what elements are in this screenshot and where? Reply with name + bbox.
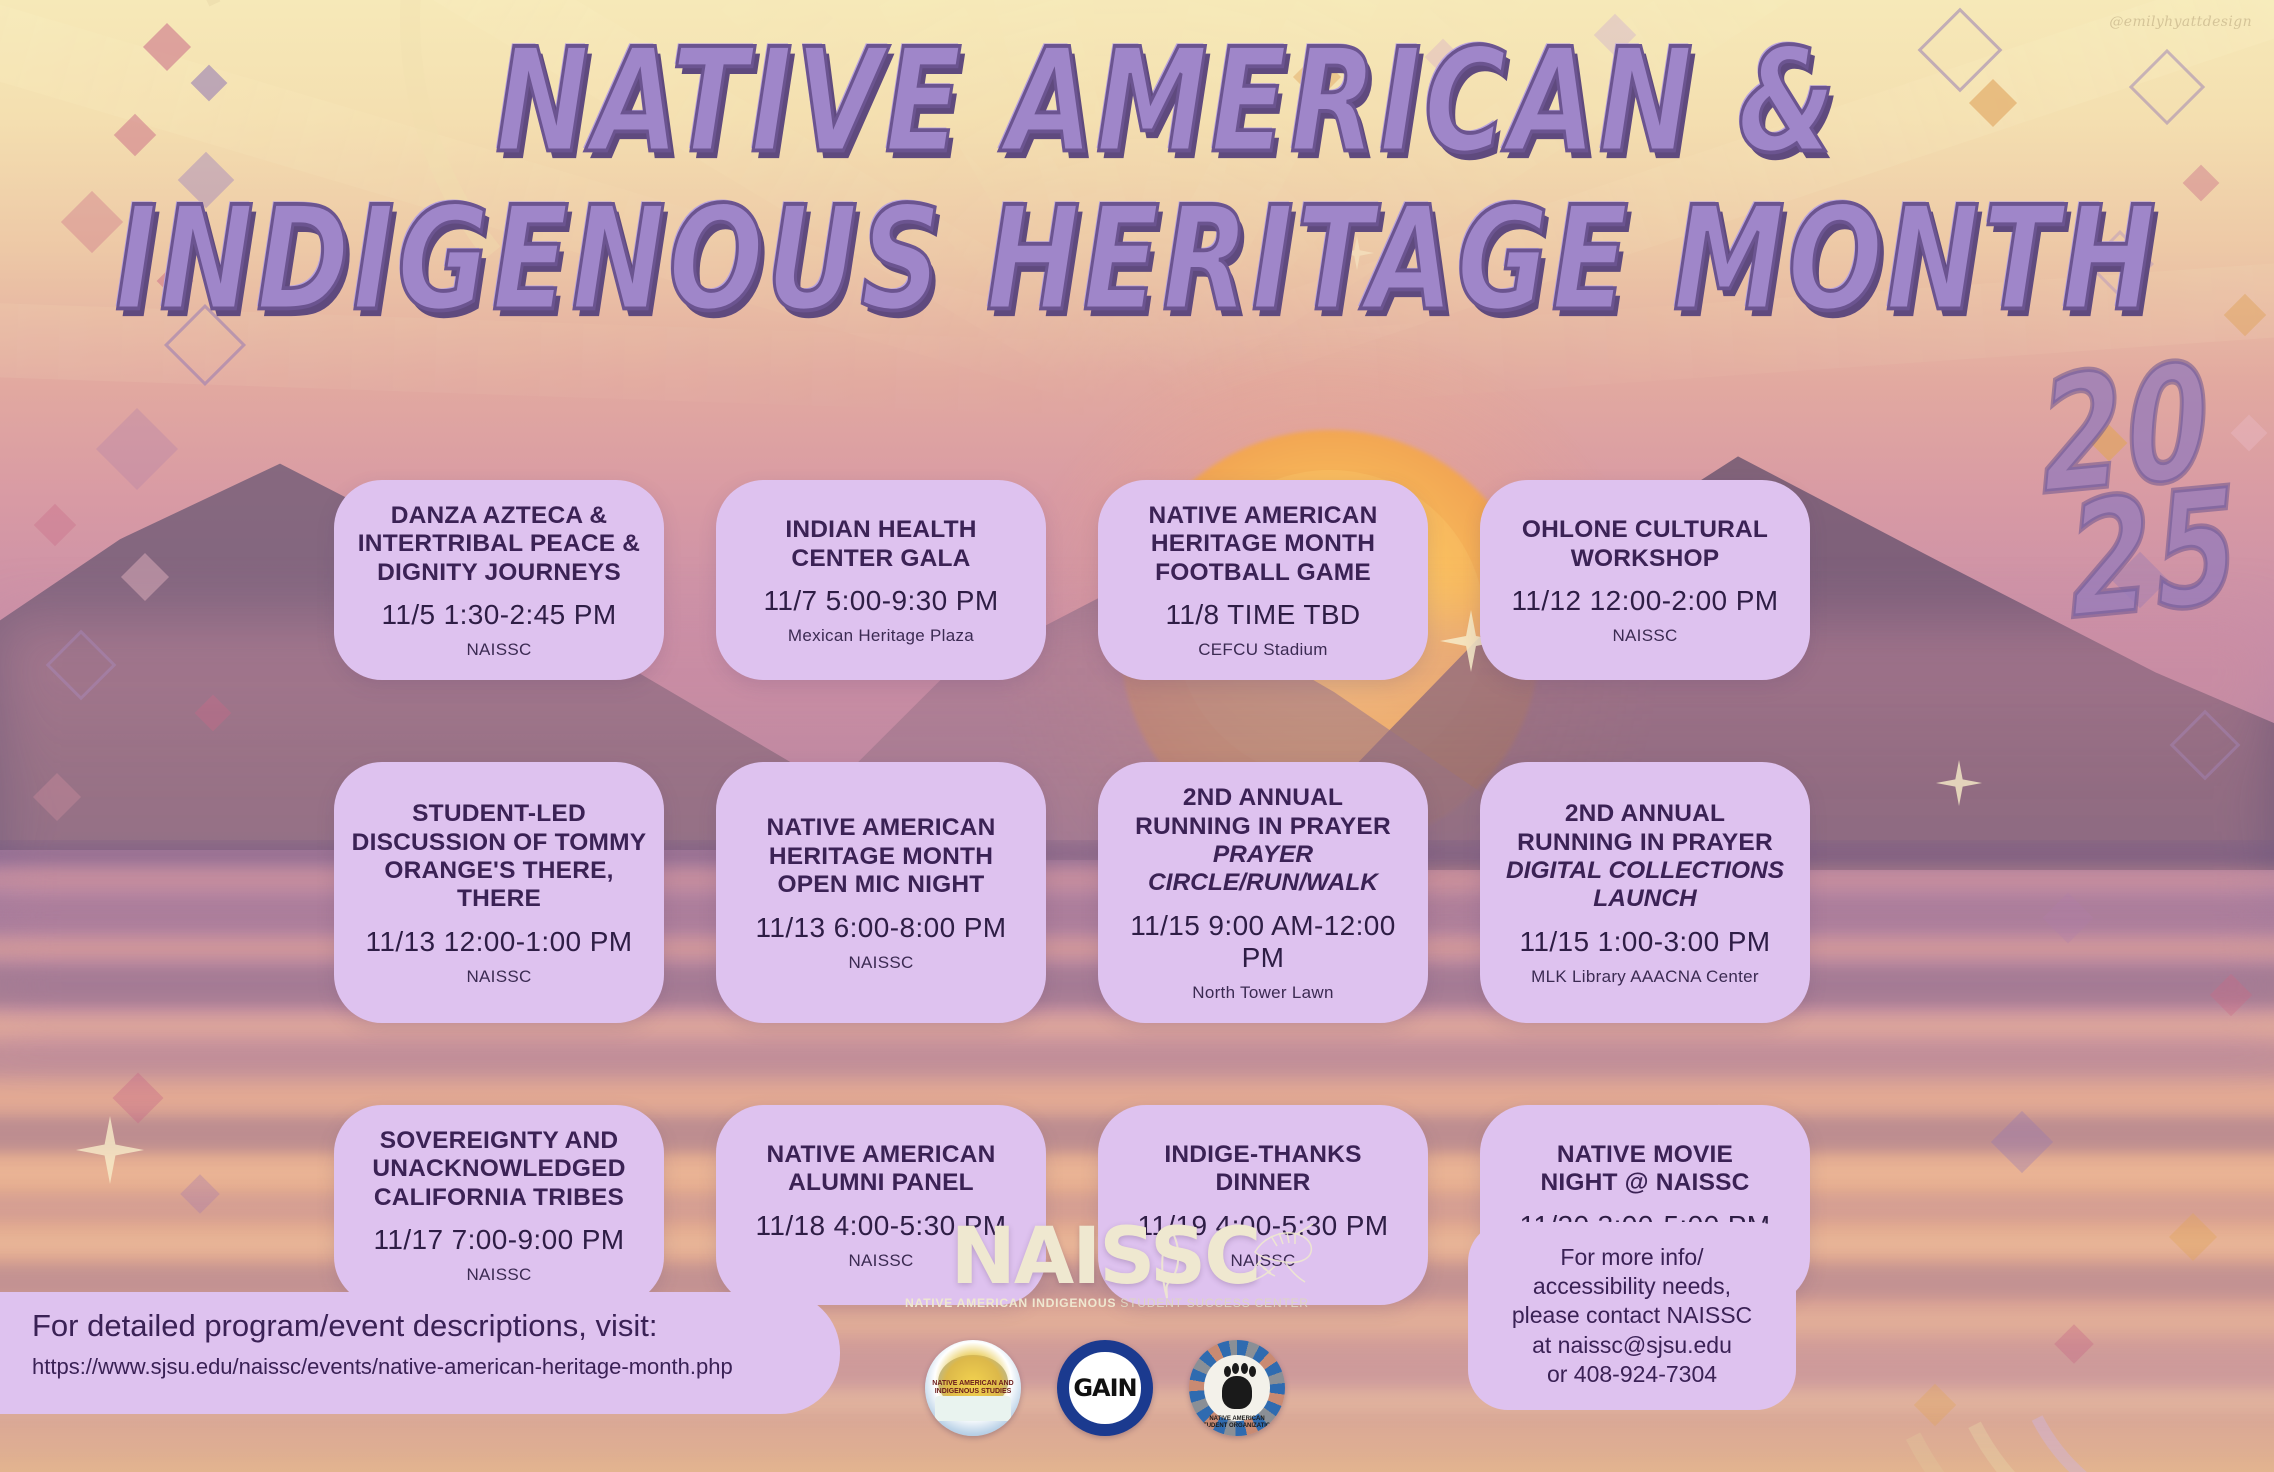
sparkle-decoration (1340, 236, 1374, 270)
event-card[interactable]: INDIAN HEALTHCENTER GALA11/7 5:00-9:30 P… (716, 480, 1046, 680)
hummingbird-icon (1241, 1216, 1319, 1286)
event-card[interactable]: SOVEREIGNTY ANDUNACKNOWLEDGEDCALIFORNIA … (334, 1105, 664, 1305)
event-title: INDIAN HEALTHCENTER GALA (730, 516, 1032, 573)
event-card[interactable]: 2ND ANNUALRUNNING IN PRAYERDIGITAL COLLE… (1480, 762, 1810, 1023)
event-datetime: 11/12 12:00-2:00 PM (1494, 585, 1796, 617)
event-title: DANZA AZTECA &INTERTRIBAL PEACE &DIGNITY… (348, 502, 650, 587)
seal-native-american-indigenous-studies: NATIVE AMERICAN AND INDIGENOUS STUDIES (925, 1340, 1021, 1436)
event-title: 2ND ANNUALRUNNING IN PRAYER (1494, 800, 1796, 857)
event-card[interactable]: STUDENT-LEDDISCUSSION OF TOMMYORANGE'S T… (334, 762, 664, 1023)
event-subtitle: DIGITAL COLLECTIONS LAUNCH (1494, 857, 1796, 914)
program-url-link[interactable]: https://www.sjsu.edu/naissc/events/nativ… (32, 1354, 810, 1380)
event-datetime: 11/15 1:00-3:00 PM (1494, 926, 1796, 958)
event-card-grid: DANZA AZTECA &INTERTRIBAL PEACE &DIGNITY… (334, 480, 1934, 1305)
event-location: North Tower Lawn (1112, 983, 1414, 1003)
program-url-box[interactable]: For detailed program/event descriptions,… (0, 1292, 840, 1414)
seal2-label: GAIN (1057, 1340, 1153, 1436)
event-datetime: 11/8 TIME TBD (1112, 599, 1414, 631)
event-datetime: 11/7 5:00-9:30 PM (730, 585, 1032, 617)
seal-gain: GAIN (1057, 1340, 1153, 1436)
designer-credit: @emilyhyattdesign (2109, 14, 2252, 30)
contact-info-box[interactable]: For more info/accessibility needs,please… (1468, 1222, 1796, 1410)
event-card[interactable]: 2ND ANNUALRUNNING IN PRAYERPRAYER CIRCLE… (1098, 762, 1428, 1023)
event-title: OHLONE CULTURALWORKSHOP (1494, 516, 1796, 573)
event-location: NAISSC (730, 953, 1032, 973)
event-title: SOVEREIGNTY ANDUNACKNOWLEDGEDCALIFORNIA … (348, 1127, 650, 1212)
event-title: NATIVE AMERICANHERITAGE MONTHFOOTBALL GA… (1112, 502, 1414, 587)
naissc-wordmark: NAISSC (951, 1222, 1260, 1292)
contact-text: For more info/accessibility needs,please… (1512, 1243, 1752, 1389)
poster-canvas: @emilyhyattdesign NATIVE AMERICAN & INDI… (0, 0, 2274, 1472)
event-datetime: 11/13 6:00-8:00 PM (730, 912, 1032, 944)
event-location: NAISSC (1494, 626, 1796, 646)
seal1-label: NATIVE AMERICAN AND INDIGENOUS STUDIES (925, 1340, 1021, 1436)
seal-native-american-student-organization: NATIVE AMERICAN STUDENT ORGANIZATION (1189, 1340, 1285, 1436)
event-datetime: 11/17 7:00-9:00 PM (348, 1224, 650, 1256)
event-location: Mexican Heritage Plaza (730, 626, 1032, 646)
event-datetime: 11/15 9:00 AM-12:00 PM (1112, 910, 1414, 974)
event-title: NATIVE AMERICANHERITAGE MONTHOPEN MIC NI… (730, 814, 1032, 899)
leaf-icon (1147, 1226, 1187, 1300)
event-subtitle: PRAYER CIRCLE/RUN/WALK (1112, 841, 1414, 898)
event-location: NAISSC (348, 640, 650, 660)
event-card[interactable]: OHLONE CULTURALWORKSHOP11/12 12:00-2:00 … (1480, 480, 1810, 680)
event-title: INDIGE-THANKSDINNER (1112, 1141, 1414, 1198)
seal3-label: NATIVE AMERICAN STUDENT ORGANIZATION (1189, 1340, 1285, 1436)
naissc-wordmark-text: NAISSC (951, 1212, 1260, 1302)
event-title: NATIVE MOVIENIGHT @ NAISSC (1494, 1141, 1796, 1198)
event-card[interactable]: NATIVE AMERICANHERITAGE MONTHFOOTBALL GA… (1098, 480, 1428, 680)
event-title: STUDENT-LEDDISCUSSION OF TOMMYORANGE'S T… (348, 800, 650, 914)
partner-org-seals: NATIVE AMERICAN AND INDIGENOUS STUDIES G… (905, 1340, 1305, 1450)
event-title: 2ND ANNUALRUNNING IN PRAYER (1112, 784, 1414, 841)
url-heading: For detailed program/event descriptions,… (32, 1308, 810, 1344)
event-card[interactable]: NATIVE AMERICANHERITAGE MONTHOPEN MIC NI… (716, 762, 1046, 1023)
event-title: NATIVE AMERICANALUMNI PANEL (730, 1141, 1032, 1198)
event-location: NAISSC (348, 1265, 650, 1285)
event-location: NAISSC (348, 967, 650, 987)
sparkle-decoration (76, 1116, 144, 1184)
event-location: MLK Library AAACNA Center (1494, 967, 1796, 987)
event-datetime: 11/5 1:30-2:45 PM (348, 599, 650, 631)
sparkle-decoration (1936, 760, 1982, 806)
event-location: CEFCU Stadium (1112, 640, 1414, 660)
naissc-logo: NAISSC NATIVE AMERICAN INDIGENOUS STUDEN… (905, 1222, 1305, 1310)
event-card[interactable]: DANZA AZTECA &INTERTRIBAL PEACE &DIGNITY… (334, 480, 664, 680)
event-datetime: 11/13 12:00-1:00 PM (348, 926, 650, 958)
